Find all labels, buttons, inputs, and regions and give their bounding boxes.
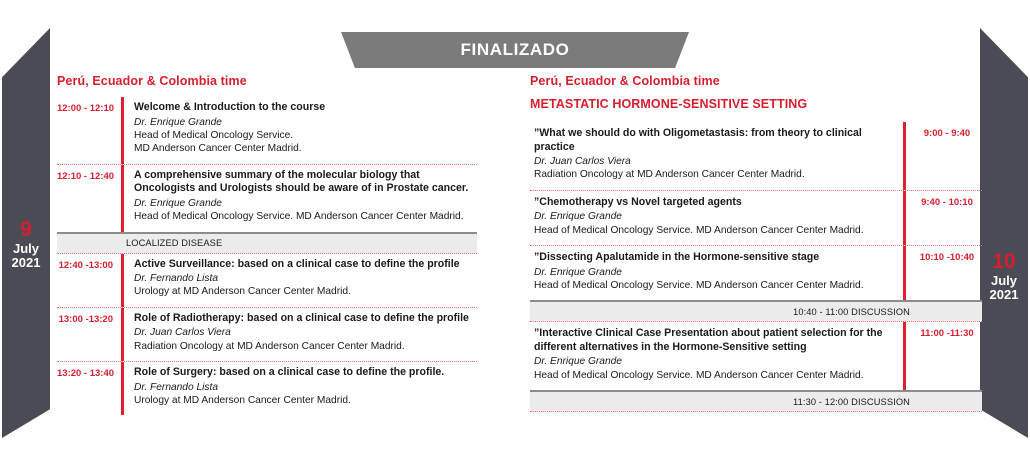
session-speaker: Dr. Juan Carlos Viera <box>134 326 477 339</box>
timezone-heading-right: Perú, Ecuador & Colombia time <box>530 74 982 88</box>
session-affiliation: Head of Medical Oncology Service. MD And… <box>534 224 893 237</box>
session-time: 12:40 -13:00 <box>57 254 121 271</box>
session-title: ”Chemotherapy vs Novel targeted agents <box>534 196 893 210</box>
session-affiliation: Head of Medical Oncology Service. MD And… <box>534 279 893 292</box>
session-title: A comprehensive summary of the molecular… <box>134 169 477 196</box>
session-row: 12:40 -13:00Active Surveillance: based o… <box>57 254 477 307</box>
session-speaker: Dr. Enrique Grande <box>534 210 893 223</box>
date-panel-right: 10 July 2021 <box>980 28 1028 438</box>
session-body: Role of Radiotherapy: based on a clinica… <box>124 308 477 361</box>
agenda-column-day-9: Perú, Ecuador & Colombia time 12:00 - 12… <box>57 74 477 415</box>
session-affiliation: Head of Medical Oncology Service. MD And… <box>534 369 893 382</box>
date-right-month: July <box>980 274 1028 289</box>
session-body: Active Surveillance: based on a clinical… <box>124 254 477 307</box>
agenda-band: 10:40 - 11:00 DISCUSSION <box>530 300 982 322</box>
session-time: 12:10 - 12:40 <box>57 165 121 182</box>
session-speaker: Dr. Enrique Grande <box>134 116 477 129</box>
session-title: Welcome & Introduction to the course <box>134 101 477 115</box>
session-body: Welcome & Introduction to the courseDr. … <box>124 97 477 164</box>
date-right-day: 10 <box>980 250 1028 274</box>
session-row: ”Dissecting Apalutamide in the Hormone-s… <box>530 245 982 300</box>
session-time: 11:00 -11:30 <box>906 322 982 339</box>
session-title: Role of Surgery: based on a clinical cas… <box>134 366 477 380</box>
session-body: ”Dissecting Apalutamide in the Hormone-s… <box>530 246 903 300</box>
status-banner-shape: FINALIZADO <box>341 32 689 68</box>
agenda-column-day-10: Perú, Ecuador & Colombia time METASTATIC… <box>530 74 982 412</box>
session-row: 13:20 - 13:40Role of Surgery: based on a… <box>57 361 477 415</box>
session-affiliation: Urology at MD Anderson Cancer Center Mad… <box>134 394 477 407</box>
date-right-year: 2021 <box>980 288 1028 303</box>
session-speaker: Dr. Enrique Grande <box>534 355 893 368</box>
session-row: 13:00 -13:20Role of Radiotherapy: based … <box>57 307 477 361</box>
session-time: 9:00 - 9:40 <box>906 122 982 139</box>
session-affiliation: Radiation Oncology at MD Anderson Cancer… <box>534 168 893 181</box>
agenda-band-label: 11:30 - 12:00 DISCUSSION <box>793 397 982 407</box>
session-affiliation: Urology at MD Anderson Cancer Center Mad… <box>134 285 477 298</box>
session-body: ”Chemotherapy vs Novel targeted agentsDr… <box>530 191 903 245</box>
session-row: ”Chemotherapy vs Novel targeted agentsDr… <box>530 190 982 245</box>
session-list-right: ”What we should do with Oligometastasis:… <box>530 122 982 412</box>
agenda-band: 11:30 - 12:00 DISCUSSION <box>530 390 982 412</box>
session-time: 12:00 - 12:10 <box>57 97 121 114</box>
session-body: ”Interactive Clinical Case Presentation … <box>530 322 903 390</box>
agenda-band-label: LOCALIZED DISEASE <box>57 238 222 248</box>
session-affiliation: Head of Medical Oncology Service. <box>134 129 477 142</box>
session-title: ”Interactive Clinical Case Presentation … <box>534 327 893 354</box>
date-panel-left-text: 9 July 2021 <box>2 218 50 271</box>
session-body: A comprehensive summary of the molecular… <box>124 165 477 232</box>
session-row: 12:10 - 12:40A comprehensive summary of … <box>57 164 477 232</box>
session-title: Role of Radiotherapy: based on a clinica… <box>134 312 477 326</box>
status-banner: FINALIZADO <box>341 32 689 68</box>
agenda-band: LOCALIZED DISEASE <box>57 232 477 254</box>
session-row: ”Interactive Clinical Case Presentation … <box>530 322 982 390</box>
session-speaker: Dr. Enrique Grande <box>534 266 893 279</box>
session-affiliation: Radiation Oncology at MD Anderson Cancer… <box>134 340 477 353</box>
session-list-left: 12:00 - 12:10Welcome & Introduction to t… <box>57 97 477 415</box>
date-panel-left: 9 July 2021 <box>2 28 50 438</box>
agenda-page: FINALIZADO 9 July 2021 10 July 2021 Perú… <box>0 0 1030 450</box>
session-body: ”What we should do with Oligometastasis:… <box>530 122 903 190</box>
session-time: 9:40 - 10:10 <box>906 191 982 208</box>
session-affiliation: Head of Medical Oncology Service. MD And… <box>134 210 477 223</box>
session-title: Active Surveillance: based on a clinical… <box>134 258 477 272</box>
session-row: ”What we should do with Oligometastasis:… <box>530 122 982 190</box>
session-row: 12:00 - 12:10Welcome & Introduction to t… <box>57 97 477 164</box>
session-time: 10:10 -10:40 <box>906 246 982 263</box>
date-left-day: 9 <box>2 218 50 242</box>
date-panel-right-text: 10 July 2021 <box>980 250 1028 303</box>
session-time: 13:20 - 13:40 <box>57 362 121 379</box>
session-title: ”Dissecting Apalutamide in the Hormone-s… <box>534 251 893 265</box>
session-speaker: Dr. Juan Carlos Viera <box>534 155 893 168</box>
timezone-heading-left: Perú, Ecuador & Colombia time <box>57 74 477 88</box>
session-title: ”What we should do with Oligometastasis:… <box>534 127 893 154</box>
section-heading-metastatic: METASTATIC HORMONE-SENSITIVE SETTING <box>530 97 982 111</box>
session-body: Role of Surgery: based on a clinical cas… <box>124 362 477 415</box>
agenda-band-label: 10:40 - 11:00 DISCUSSION <box>793 307 982 317</box>
session-affiliation: MD Anderson Cancer Center Madrid. <box>134 142 477 155</box>
session-speaker: Dr. Enrique Grande <box>134 197 477 210</box>
session-time: 13:00 -13:20 <box>57 308 121 325</box>
date-left-year: 2021 <box>2 256 50 271</box>
date-panel-right-slab <box>980 28 1028 438</box>
session-speaker: Dr. Fernando Lista <box>134 381 477 394</box>
status-banner-label: FINALIZADO <box>461 40 570 60</box>
session-speaker: Dr. Fernando Lista <box>134 272 477 285</box>
date-left-month: July <box>2 242 50 257</box>
